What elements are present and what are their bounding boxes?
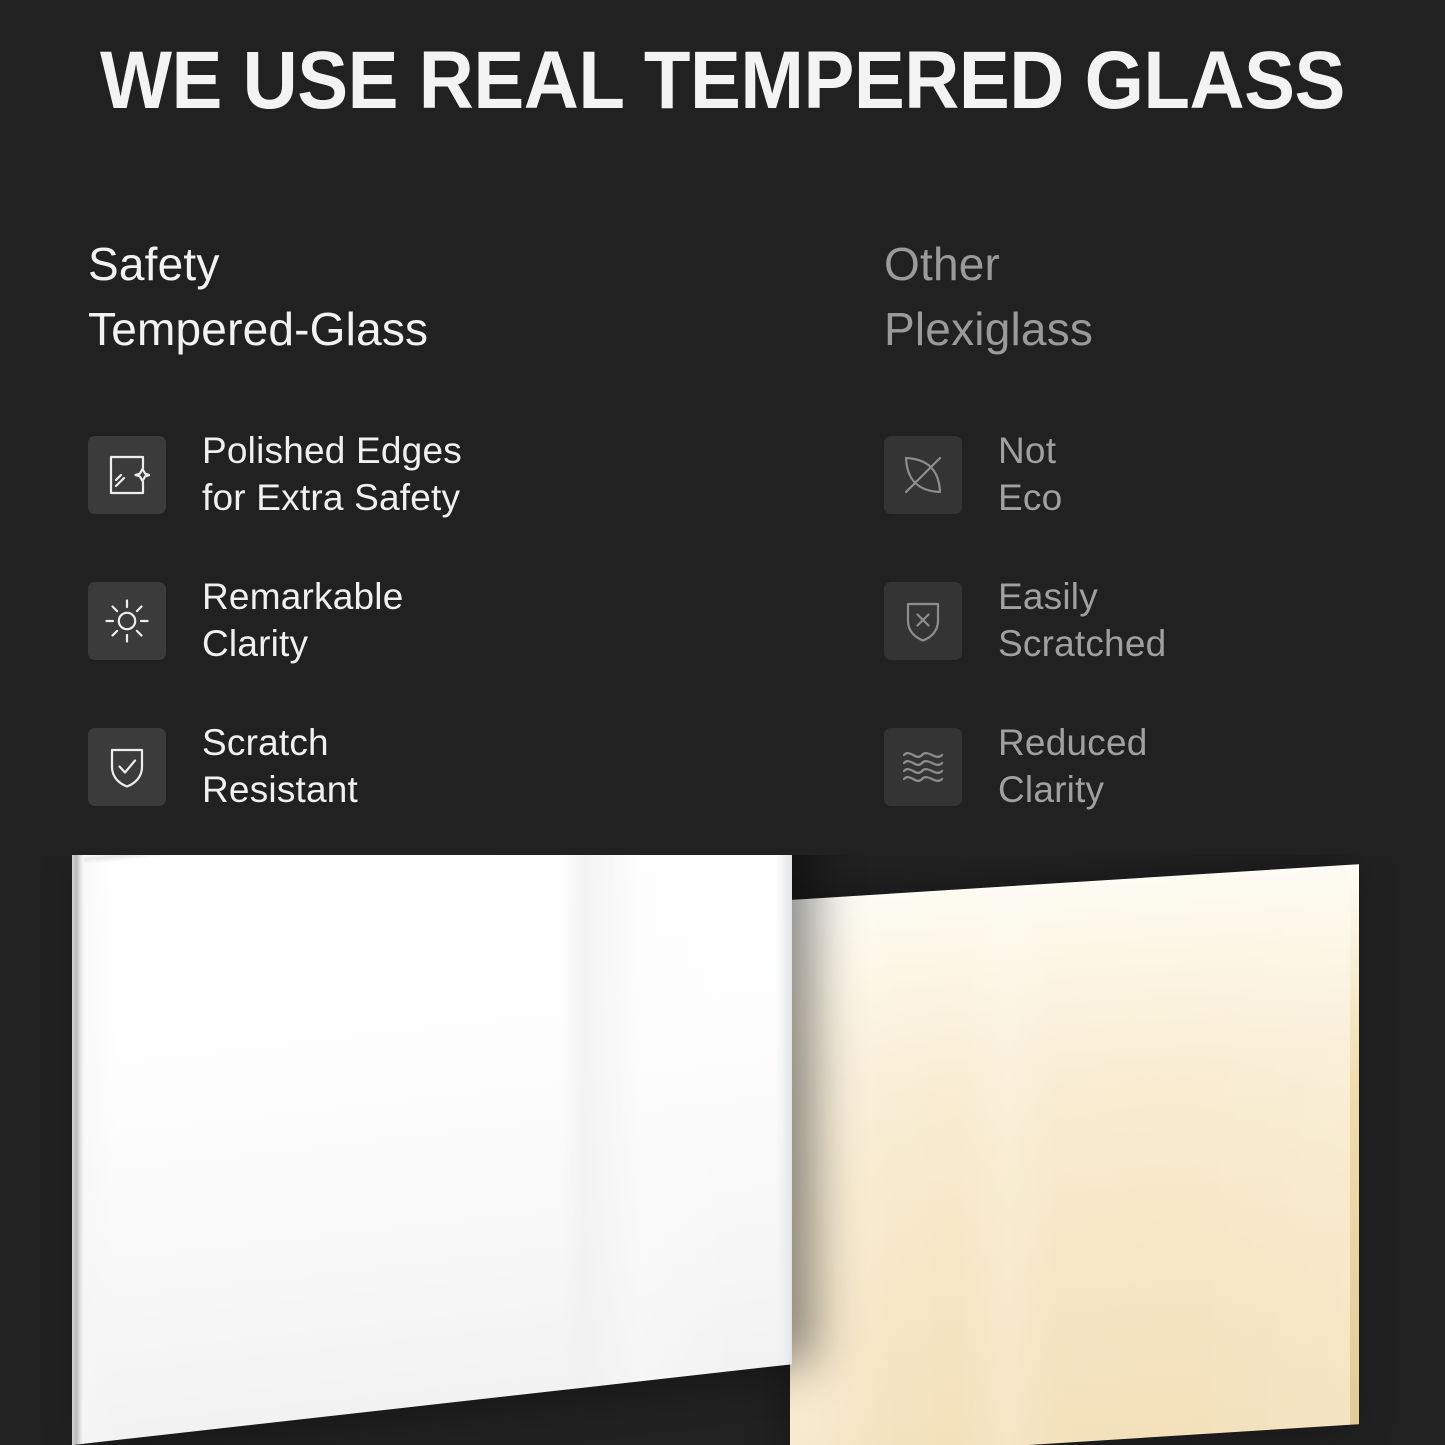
product-images bbox=[0, 855, 1445, 1445]
tempered-glass-polished-left-edge bbox=[72, 855, 84, 1445]
crossed-out-leaf-icon bbox=[884, 436, 962, 514]
feature-item: Reduced Clarity bbox=[884, 721, 1424, 813]
feature-item: Remarkable Clarity bbox=[88, 575, 828, 667]
comparison-section: Safety Tempered-Glass Polished Edges for… bbox=[0, 232, 1445, 852]
shield-check-icon bbox=[88, 728, 166, 806]
polished-glass-pane-sparkle-icon bbox=[88, 436, 166, 514]
feature-item: Easily Scratched bbox=[884, 575, 1424, 667]
feature-label: Reduced Clarity bbox=[998, 720, 1148, 813]
column-heading-plexiglass: Other Plexiglass bbox=[884, 232, 1424, 363]
comparison-column-tempered-glass: Safety Tempered-Glass Polished Edges for… bbox=[88, 232, 828, 813]
tempered-glass-reflection bbox=[72, 855, 792, 1445]
feature-label: Not Eco bbox=[998, 428, 1062, 521]
tempered-glass-panel bbox=[72, 855, 792, 1445]
plexiglass-panel bbox=[790, 865, 1350, 1445]
shield-x-icon bbox=[884, 582, 962, 660]
feature-label: Easily Scratched bbox=[998, 574, 1166, 667]
plexiglass-reflection bbox=[790, 865, 1350, 1445]
page-title: WE USE REAL TEMPERED GLASS bbox=[51, 40, 1395, 122]
comparison-column-plexiglass: Other Plexiglass Not Eco bbox=[884, 232, 1424, 813]
feature-item: Not Eco bbox=[884, 429, 1424, 521]
feature-list-plexiglass: Not Eco Easily Scratched bbox=[884, 429, 1424, 813]
feature-list-tempered-glass: Polished Edges for Extra Safety Remarkab… bbox=[88, 429, 828, 813]
column-heading-tempered-glass: Safety Tempered-Glass bbox=[88, 232, 828, 363]
feature-label: Remarkable Clarity bbox=[202, 574, 403, 667]
sun-clarity-icon bbox=[88, 582, 166, 660]
wavy-lines-icon bbox=[884, 728, 962, 806]
feature-label: Polished Edges for Extra Safety bbox=[202, 428, 462, 521]
feature-item: Scratch Resistant bbox=[88, 721, 828, 813]
plexiglass-edge bbox=[1350, 864, 1359, 1425]
feature-label: Scratch Resistant bbox=[202, 720, 358, 813]
tempered-glass-polished-right-edge bbox=[776, 855, 792, 1366]
feature-item: Polished Edges for Extra Safety bbox=[88, 429, 828, 521]
